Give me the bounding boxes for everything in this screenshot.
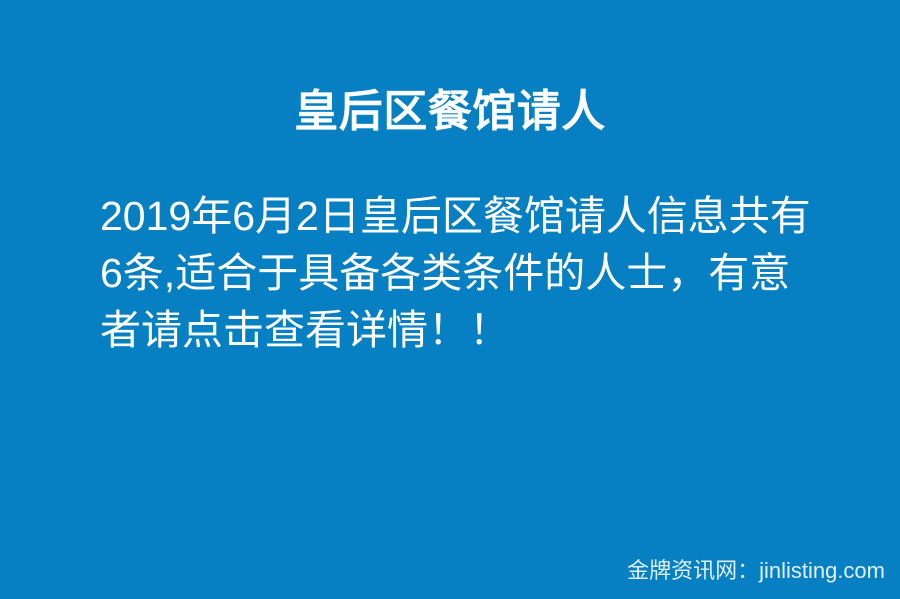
body-text-block: 2019年6月2日皇后区餐馆请人信息共有 6条,适合于具备各类条件的人士，有意 … [100,188,812,359]
body-line-1: 2019年6月2日皇后区餐馆请人信息共有 [100,188,812,245]
body-line-2: 6条,适合于具备各类条件的人士，有意 [100,245,812,302]
body-line-3: 者请点击查看详情！！ [100,302,812,359]
footer-watermark: 金牌资讯网：jinlisting.com [627,557,885,585]
slide-canvas: 皇后区餐馆请人 2019年6月2日皇后区餐馆请人信息共有 6条,适合于具备各类条… [0,0,900,599]
page-title: 皇后区餐馆请人 [294,84,606,140]
page-title-container: 皇后区餐馆请人 [0,84,900,140]
